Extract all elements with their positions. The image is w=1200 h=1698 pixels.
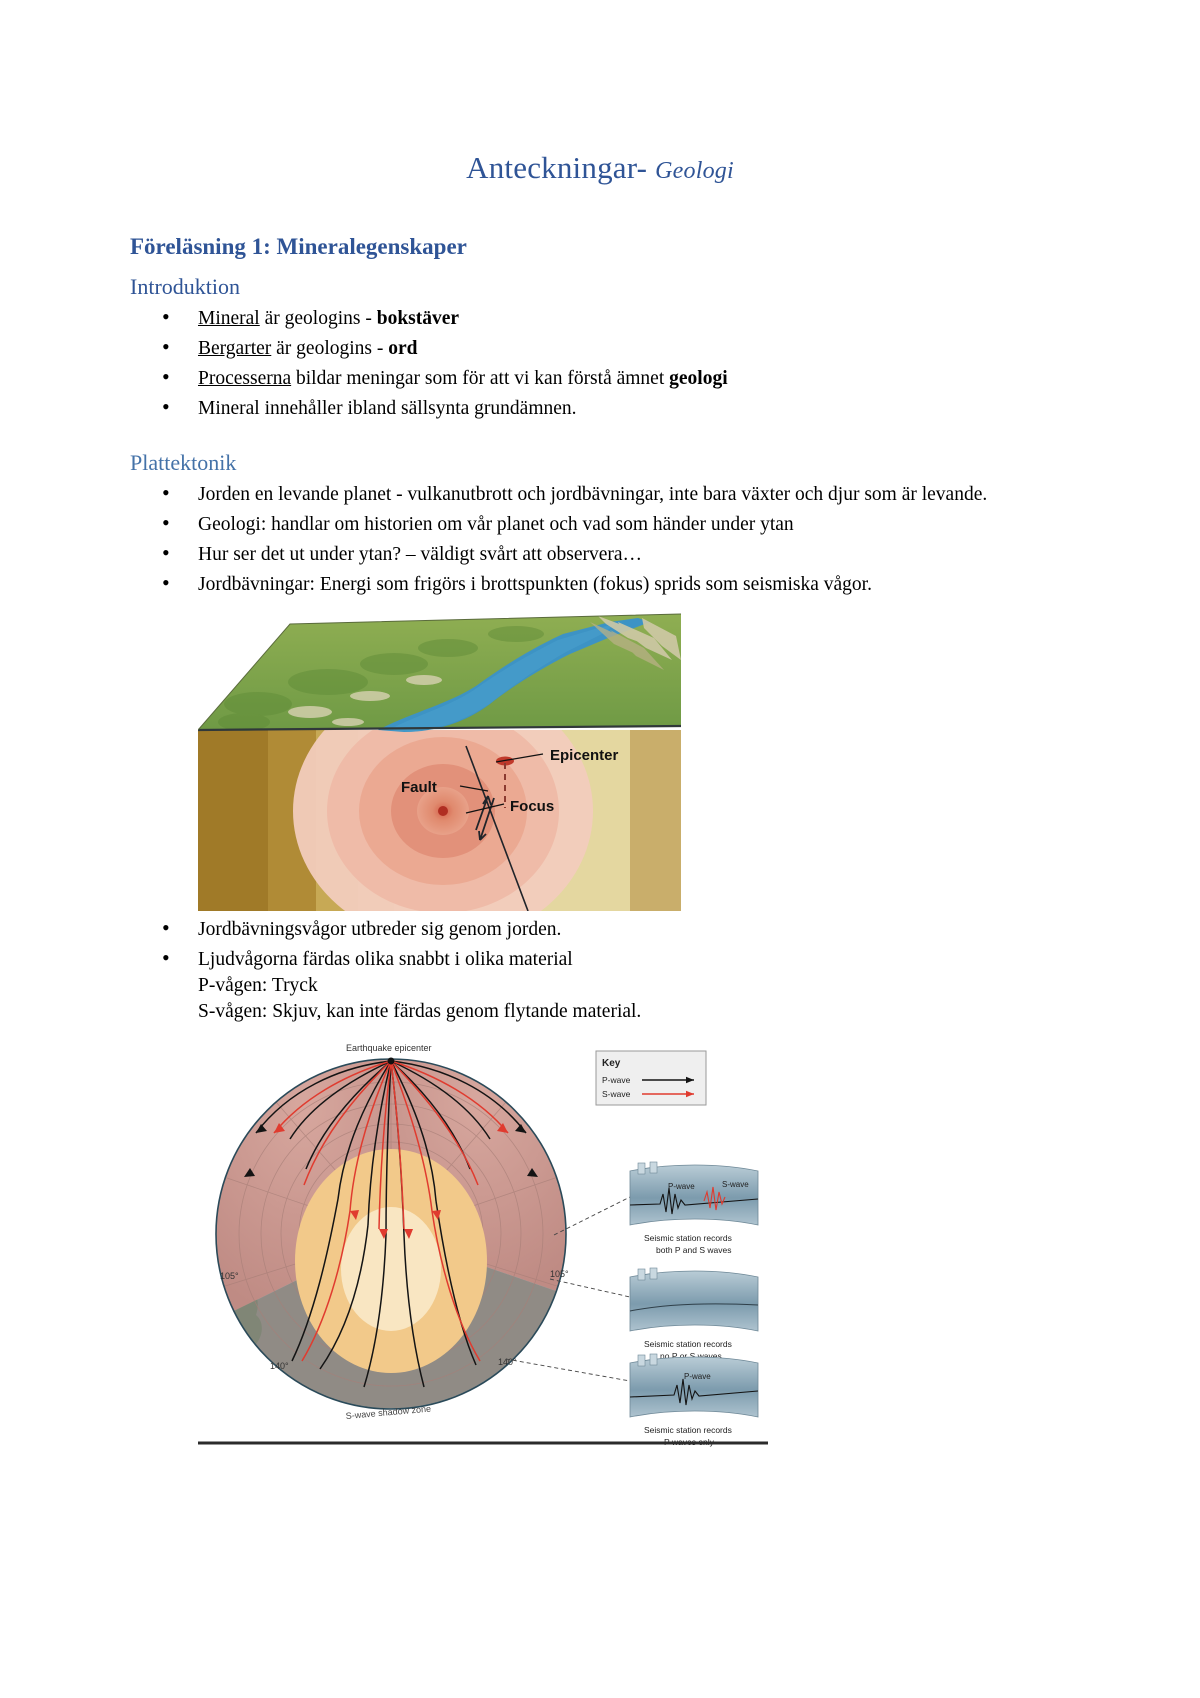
bullet-tail: geologi (669, 368, 728, 389)
key-s-wave-label: S-wave (602, 1089, 631, 1099)
key-p-wave-label: P-wave (602, 1075, 631, 1085)
document-content: Anteckningar- Geologi Föreläsning 1: Min… (130, 0, 1070, 1449)
seismic-station-1: P-wave S-wave Seismic station records bo… (630, 1162, 758, 1255)
plattektonik-bullet-list: Jorden en levande planet - vulkanutbrott… (130, 482, 1070, 598)
list-item: Mineral är geologins - bokstäver (130, 306, 1070, 332)
epicenter-caption: Earthquake epicenter (346, 1043, 432, 1053)
continuation-p-wave: P-vågen: Tryck (198, 973, 1070, 999)
list-item: Bergarter är geologins - ord (130, 336, 1070, 362)
earthquake-block-diagram-svg: Epicenter Fault Focus (198, 608, 681, 911)
key-legend: Key P-wave S-wave (596, 1051, 706, 1105)
angle-label-bottom-right: 140° (498, 1357, 517, 1367)
list-item: Processerna bildar meningar som för att … (130, 366, 1070, 392)
seismic-wave-paths-svg: Earthquake epicenter Key P-wave S-wave 1… (198, 1029, 768, 1449)
seismic-wave-paths-figure: Earthquake epicenter Key P-wave S-wave 1… (198, 1029, 768, 1449)
epicenter-label: Epicenter (550, 747, 619, 764)
seismic-station-3: P-wave Seismic station records P waves o… (630, 1354, 758, 1447)
station3-p-wave-label: P-wave (684, 1372, 711, 1381)
list-item: Jorden en levande planet - vulkanutbrott… (130, 482, 1070, 508)
section-heading-lecture1: Föreläsning 1: Mineralegenskaper (130, 234, 1070, 260)
focus-label: Focus (510, 798, 554, 815)
list-item: Jordbävningsvågor utbreder sig genom jor… (130, 917, 1070, 943)
post-figure1-bullet-list: Jordbävningsvågor utbreder sig genom jor… (130, 917, 1070, 1025)
list-item: Geologi: handlar om historien om vår pla… (130, 512, 1070, 538)
list-item: Ljudvågorna färdas olika snabbt i olika … (130, 947, 1070, 1025)
figure2-container: Earthquake epicenter Key P-wave S-wave 1… (198, 1029, 1070, 1449)
station2-caption-line1: Seismic station records (644, 1339, 732, 1349)
seismic-station-2: Seismic station records no P or S waves (630, 1268, 758, 1361)
page-title-main: Anteckningar- (466, 150, 647, 185)
station3-caption-line1: Seismic station records (644, 1425, 732, 1435)
continuation-s-wave: S-vågen: Skjuv, kan inte färdas genom fl… (198, 999, 1070, 1025)
bullet-mid: är geologins - (260, 308, 377, 329)
page-title-subject: Geologi (655, 158, 734, 184)
inner-core (341, 1207, 441, 1331)
list-item: Jordbävningar: Energi som frigörs i brot… (130, 572, 1070, 598)
focus-point-icon (438, 806, 448, 816)
bullet-mid: är geologins - (271, 338, 388, 359)
document-page: Anteckningar- Geologi Föreläsning 1: Min… (0, 0, 1200, 1698)
subheading-introduktion: Introduktion (130, 274, 1070, 300)
bullet-lead: Bergarter (198, 338, 271, 359)
earthquake-block-diagram-figure: Epicenter Fault Focus (198, 608, 681, 911)
intro-bullet-list: Mineral är geologins - bokstäver Bergart… (130, 306, 1070, 422)
key-title: Key (602, 1058, 621, 1069)
figure1-container: Epicenter Fault Focus (198, 608, 1070, 911)
station1-p-wave-label: P-wave (668, 1182, 695, 1191)
station1-s-wave-label: S-wave (722, 1180, 749, 1189)
bullet-lead: Processerna (198, 368, 291, 389)
subheading-plattektonik: Plattektonik (130, 450, 1070, 476)
angle-label-bottom-left: 140° (270, 1361, 289, 1371)
list-item: Hur ser det ut under ytan? – väldigt svå… (130, 542, 1070, 568)
angle-label-right: 105° (550, 1269, 569, 1279)
station1-caption-line2: both P and S waves (656, 1245, 731, 1255)
bullet-text: Ljudvågorna färdas olika snabbt i olika … (198, 947, 1070, 973)
bullet-tail: bokstäver (377, 308, 459, 329)
list-item: Mineral innehåller ibland sällsynta grun… (130, 396, 1070, 422)
bullet-tail: ord (388, 338, 417, 359)
bullet-mid: Mineral innehåller ibland sällsynta grun… (198, 398, 577, 419)
bullet-mid: bildar meningar som för att vi kan först… (291, 368, 669, 389)
epicenter-marker-icon (388, 1058, 395, 1065)
bullet-lead: Mineral (198, 308, 260, 329)
page-title: Anteckningar- Geologi (130, 150, 1070, 186)
fault-label: Fault (401, 779, 437, 796)
angle-label-left: 105° (220, 1271, 239, 1281)
station1-caption-line1: Seismic station records (644, 1233, 732, 1243)
